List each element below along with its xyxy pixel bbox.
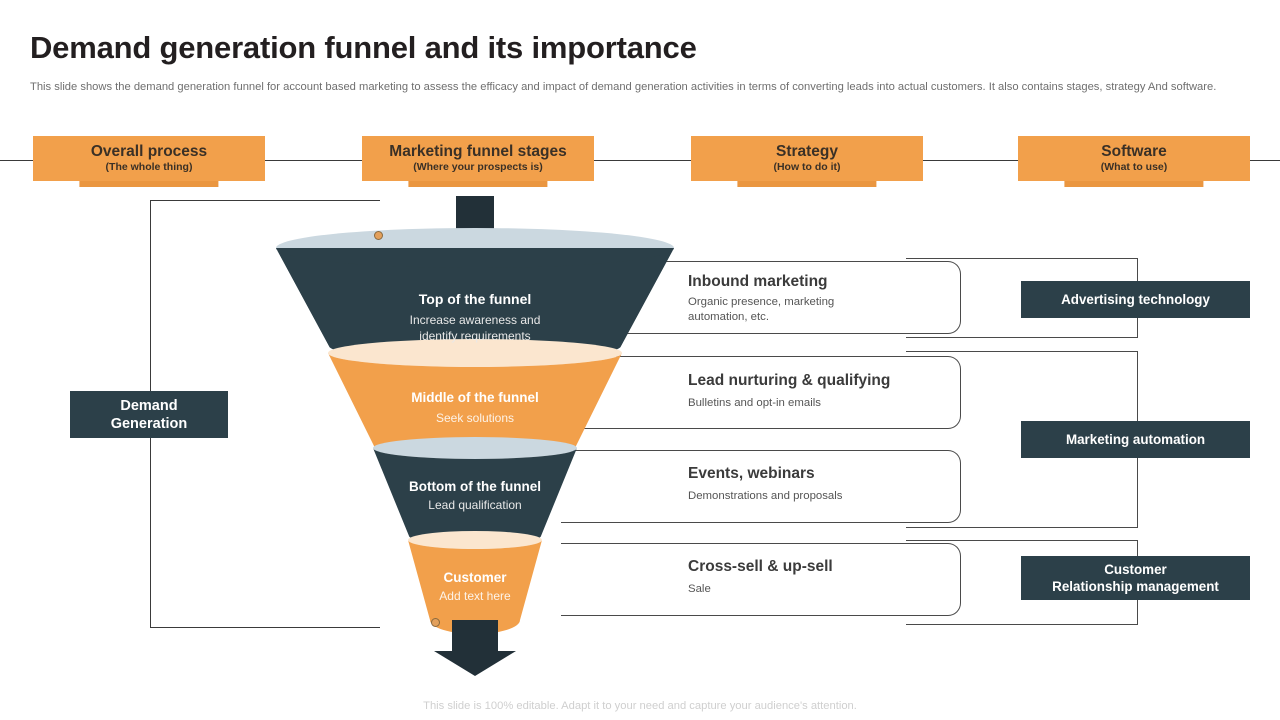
column-header-subtitle: (The whole thing) xyxy=(106,161,193,174)
column-header-strategy[interactable]: Strategy (How to do it) xyxy=(691,136,923,181)
funnel-stage-2-desc1: Seek solutions xyxy=(436,411,514,425)
column-header-overall-process[interactable]: Overall process (The whole thing) xyxy=(33,136,265,181)
software-box-line1: Advertising technology xyxy=(1061,292,1210,307)
column-header-title: Software xyxy=(1101,143,1166,161)
bracket-anchor-dot-bottom xyxy=(431,618,440,627)
funnel-stage-4-body xyxy=(408,540,542,634)
strategy-desc-line1: Demonstrations and proposals xyxy=(688,489,843,504)
strategy-desc-line2: automation, etc. xyxy=(688,310,769,325)
column-header-marketing-funnel-stages[interactable]: Marketing funnel stages (Where your pros… xyxy=(362,136,594,181)
column-header-subtitle: (How to do it) xyxy=(773,161,840,174)
strategy-desc-line1: Sale xyxy=(688,582,711,597)
column-header-underline xyxy=(1064,181,1203,187)
column-header-underline xyxy=(408,181,547,187)
software-box-customer-relationship-management[interactable]: Customer Relationship management xyxy=(1021,556,1250,600)
software-box-advertising-technology[interactable]: Advertising technology xyxy=(1021,281,1250,318)
demand-generation-line1: Demand xyxy=(120,398,177,414)
funnel-stage-1-desc1: Increase awareness and xyxy=(410,313,541,327)
bracket-anchor-dot-top xyxy=(374,231,383,240)
software-box-line1: Marketing automation xyxy=(1066,432,1205,447)
column-header-subtitle: (What to use) xyxy=(1101,161,1168,174)
funnel-stage-3-desc1: Lead qualification xyxy=(428,498,521,512)
funnel-stage-2-title: Middle of the funnel xyxy=(411,390,539,405)
funnel-graphic: Top of the funnel Increase awareness and… xyxy=(276,196,676,676)
strategy-desc-line1: Bulletins and opt-in emails xyxy=(688,396,821,411)
column-header-title: Overall process xyxy=(91,143,207,161)
strategy-title: Events, webinars xyxy=(688,465,815,483)
demand-generation-label[interactable]: Demand Generation xyxy=(70,391,228,438)
software-box-line1: Customer xyxy=(1104,562,1167,577)
column-header-title: Marketing funnel stages xyxy=(389,143,566,161)
demand-generation-line2: Generation xyxy=(111,416,188,432)
column-header-underline xyxy=(737,181,876,187)
strategy-title: Inbound marketing xyxy=(688,273,828,291)
column-header-underline xyxy=(79,181,218,187)
page-title: Demand generation funnel and its importa… xyxy=(30,30,697,66)
column-header-subtitle: (Where your prospects is) xyxy=(413,161,543,174)
strategy-desc-line1: Organic presence, marketing xyxy=(688,295,834,310)
funnel-stage-1-title: Top of the funnel xyxy=(419,291,532,307)
column-header-software[interactable]: Software (What to use) xyxy=(1018,136,1250,181)
funnel-stage-4-desc1: Add text here xyxy=(439,589,511,603)
funnel-rim-4 xyxy=(408,531,542,549)
funnel-stage-3-body xyxy=(373,448,577,544)
funnel-rim-2 xyxy=(328,339,622,367)
column-header-title: Strategy xyxy=(776,143,838,161)
software-box-marketing-automation[interactable]: Marketing automation xyxy=(1021,421,1250,458)
funnel-stage-4-title: Customer xyxy=(443,570,507,585)
page-subtitle: This slide shows the demand generation f… xyxy=(30,80,1242,95)
funnel-stage-1-desc2: identify requirements xyxy=(419,329,530,343)
slide-root: Demand generation funnel and its importa… xyxy=(0,0,1280,720)
footer-note: This slide is 100% editable. Adapt it to… xyxy=(0,700,1280,712)
funnel-rim-3 xyxy=(373,437,577,459)
strategy-title: Cross-sell & up-sell xyxy=(688,558,833,576)
software-box-line2: Relationship management xyxy=(1052,579,1219,594)
funnel-stage-3-title: Bottom of the funnel xyxy=(409,479,541,494)
strategy-title: Lead nurturing & qualifying xyxy=(688,372,890,390)
